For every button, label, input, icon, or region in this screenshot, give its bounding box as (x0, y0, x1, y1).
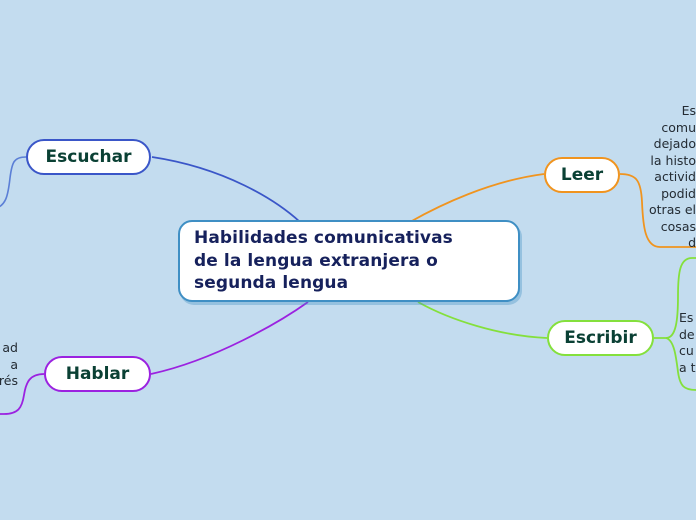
leaf-text-leer: Es comu dejado la histo activid podid ot… (540, 103, 696, 252)
branch-node-hablar[interactable]: Hablar (44, 356, 151, 392)
connector-hablar (151, 302, 308, 374)
branch-label-escribir: Escribir (564, 328, 636, 348)
connector-escribir (418, 302, 547, 338)
branch-node-escuchar[interactable]: Escuchar (26, 139, 151, 175)
central-node[interactable]: Habilidades comunicativas de la lengua e… (178, 220, 520, 302)
central-node-label: Habilidades comunicativas de la lengua e… (194, 227, 453, 295)
leaf-text-escribir: Es de cu a t (679, 310, 696, 376)
branch-node-escribir[interactable]: Escribir (547, 320, 654, 356)
mindmap-canvas: Habilidades comunicativas de la lengua e… (0, 0, 696, 520)
branch-label-escuchar: Escuchar (46, 147, 132, 167)
leaf-text-hablar: ad a rés (0, 340, 18, 390)
connector-escuchar (152, 157, 300, 222)
connector-leer (410, 174, 544, 222)
branch-label-hablar: Hablar (66, 364, 130, 384)
connector-escuchar-leaf (0, 157, 26, 209)
